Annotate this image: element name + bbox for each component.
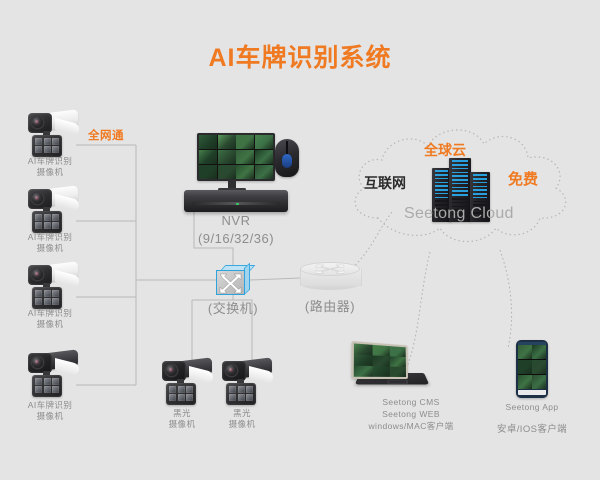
- camera-blacklight-2-caption: 黑光 摄像机: [206, 408, 278, 430]
- network-topology-diagram: AI车牌识别系统: [0, 0, 600, 480]
- laptop-screen-grid: [354, 343, 406, 377]
- cloud-to-phone-line: [500, 250, 512, 348]
- router-arrows-icon: [314, 263, 346, 275]
- camera-lens-dot: [35, 360, 39, 364]
- camera-led-array: [35, 214, 59, 229]
- monitor-screen-grid: [199, 135, 273, 179]
- laptop-trackpad: [387, 380, 408, 384]
- cloud-brand-label: Seetong Cloud: [404, 205, 514, 223]
- camera-lens-dot: [35, 272, 39, 276]
- camera-ai-lpr-4-caption: AI车牌识别 摄像机: [8, 400, 92, 422]
- network-switch-icon[interactable]: [216, 265, 250, 295]
- cloud-internet-label: 互联网: [364, 173, 406, 193]
- laptop-device[interactable]: [352, 345, 426, 391]
- router-icon[interactable]: [300, 262, 360, 288]
- cloud-global-label: 全球云: [424, 140, 466, 160]
- camera-lens-dot: [169, 368, 173, 372]
- camera-ai-lpr-2-caption: AI车牌识别 摄像机: [8, 232, 92, 254]
- phone-bottom-bar: [518, 390, 546, 395]
- laptop-caption: Seetong CMS Seetong WEB windows/MAC客户端: [348, 396, 474, 432]
- switch-arrows-icon: [217, 271, 244, 294]
- camera-ai-lpr-1-caption: AI车牌识别 摄像机: [8, 156, 92, 178]
- mouse-led-glow: [282, 154, 292, 168]
- camera-lens-dot: [35, 120, 39, 124]
- camera-lens-dot: [35, 196, 39, 200]
- router-label: (路由器): [290, 296, 370, 315]
- camera-led-array: [169, 386, 193, 401]
- mouse-button-split: [286, 141, 288, 154]
- nvr-device[interactable]: [184, 190, 288, 212]
- all-network-label: 全网通: [88, 127, 124, 143]
- nvr-channels: (9/16/32/36): [174, 231, 298, 246]
- nvr-power-led: [236, 203, 239, 205]
- nvr-name: NVR: [184, 213, 288, 228]
- phone-platform-caption: 安卓/IOS客户端: [490, 424, 574, 435]
- switch-label: (交换机): [193, 298, 273, 317]
- camera-led-array: [35, 290, 59, 305]
- cloud-free-label: 免费: [508, 168, 538, 189]
- switch-to-router-line: [250, 278, 300, 280]
- camera-led-array: [229, 386, 253, 401]
- camera-led-array: [35, 378, 59, 393]
- phone-app-caption: Seetong App: [490, 402, 574, 413]
- phone-screen-grid: [518, 345, 546, 389]
- monitor[interactable]: [197, 133, 275, 181]
- phone-device[interactable]: [516, 340, 548, 398]
- mouse-device[interactable]: [275, 139, 299, 177]
- laptop-lid: [351, 341, 408, 379]
- camera-lens-dot: [229, 368, 233, 372]
- camera-ai-lpr-3-caption: AI车牌识别 摄像机: [8, 308, 92, 330]
- camera-led-array: [35, 138, 59, 153]
